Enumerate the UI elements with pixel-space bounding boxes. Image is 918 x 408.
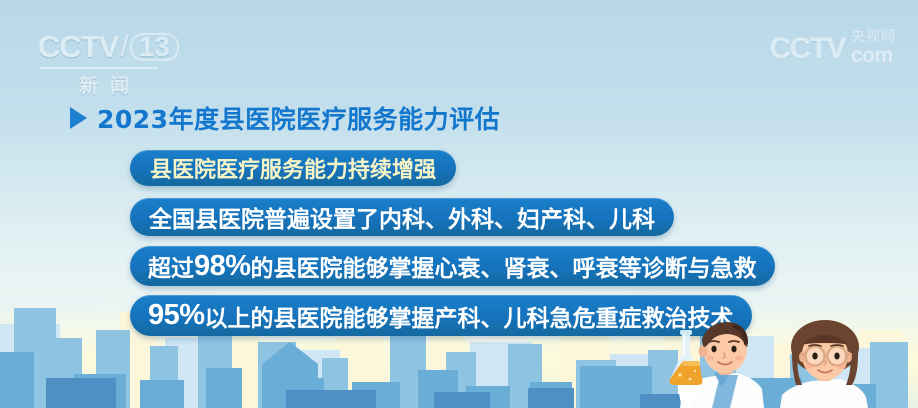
logo-underline xyxy=(40,67,158,69)
fact-bar-3-prefix: 超过 xyxy=(148,249,194,283)
logo-channel-name: 新闻 xyxy=(38,71,170,98)
fact-bar-4: 95% 以上的县医院能够掌握产科、儿科急危重症救治技术 xyxy=(130,295,752,336)
triangle-right-icon xyxy=(70,107,87,129)
doctors-illustration xyxy=(668,313,918,408)
watermark-domain: com xyxy=(851,46,893,66)
fact-bar-2: 全国县医院普遍设置了内科、外科、妇产科、儿科 xyxy=(130,198,674,236)
fact-bar-1: 县医院医疗服务能力持续增强 xyxy=(130,150,456,186)
headline: 2023年度县医院医疗服务能力评估 xyxy=(70,100,500,136)
fact-bar-4-stat: 95% xyxy=(148,299,205,332)
logo-slash-icon: / xyxy=(120,30,128,64)
logo-channel-number: 13 xyxy=(130,33,179,61)
logo-brand-text: CCTV xyxy=(38,29,118,65)
fact-bar-3: 超过 98% 的县医院能够掌握心衰、肾衰、呼衰等诊断与急救 xyxy=(130,246,775,286)
cctv-13-logo: CCTV / 13 新闻 xyxy=(38,28,170,90)
fact-bar-3-stat: 98% xyxy=(194,250,251,283)
fact-bar-2-text: 全国县医院普遍设置了内科、外科、妇产科、儿科 xyxy=(149,200,655,234)
male-doctor-with-flask xyxy=(670,322,765,408)
watermark-brand: CCTV xyxy=(769,32,845,66)
fact-bar-4-suffix: 以上的县医院能够掌握产科、儿科急危重症救治技术 xyxy=(205,299,734,333)
headline-text: 2023年度县医院医疗服务能力评估 xyxy=(97,100,500,136)
conical-flask-orange xyxy=(670,330,703,385)
watermark-cn-text: 央视网 xyxy=(851,26,896,46)
fact-bar-3-suffix: 的县医院能够掌握心衰、肾衰、呼衰等诊断与急救 xyxy=(251,249,757,283)
fact-bar-1-text: 县医院医疗服务能力持续增强 xyxy=(150,152,436,184)
female-doctor-with-glasses xyxy=(780,320,868,408)
cctv-com-watermark: CCTV 央视网 com xyxy=(769,26,896,66)
broadcast-screen: CCTV / 13 新闻 CCTV 央视网 com 2023年度县医院医疗服务能… xyxy=(0,0,918,408)
